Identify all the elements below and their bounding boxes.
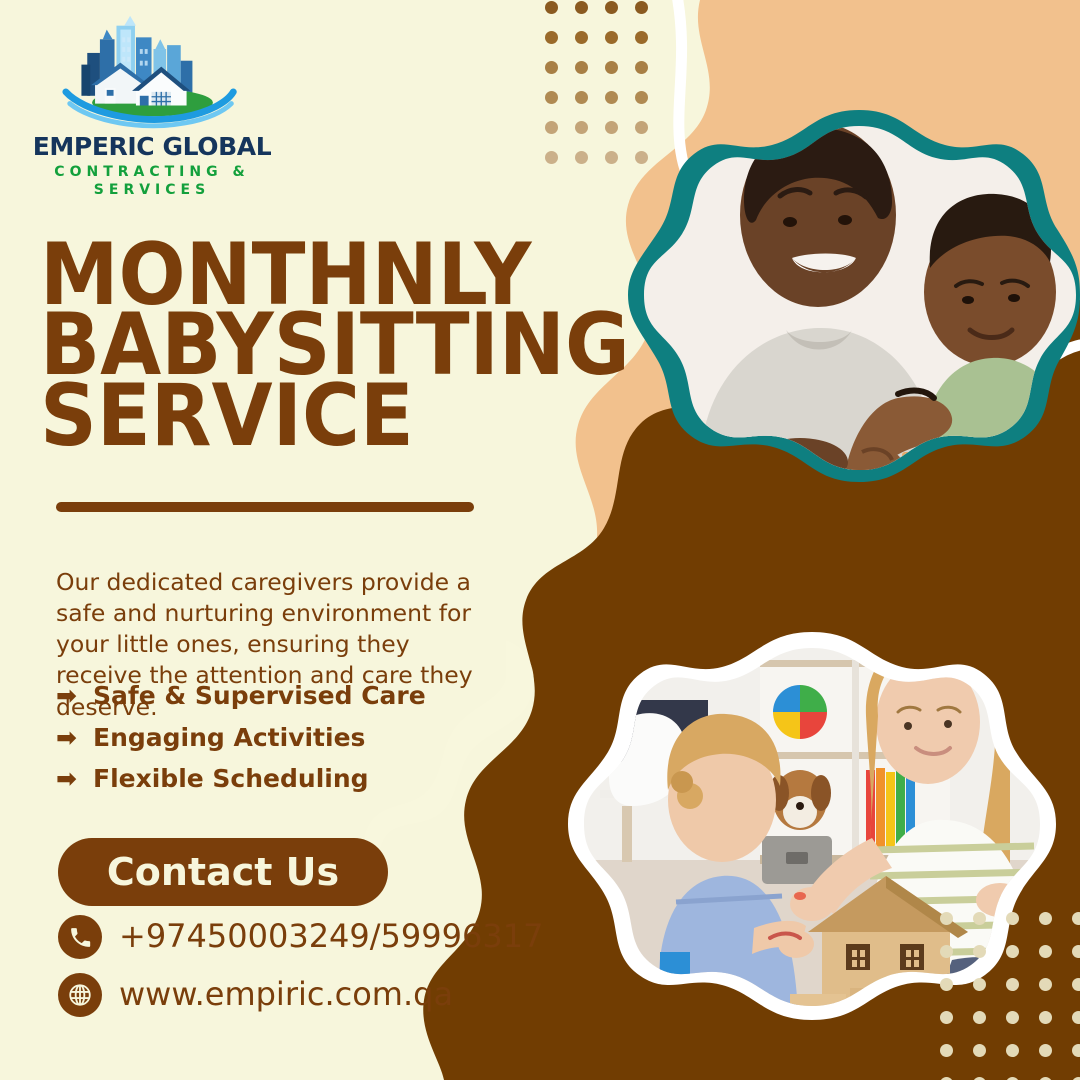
decor-dot <box>575 121 588 134</box>
decor-dot <box>605 1 618 14</box>
decor-dot <box>635 121 648 134</box>
decor-dot <box>1072 1044 1080 1057</box>
decor-dot <box>635 91 648 104</box>
globe-icon <box>58 973 102 1017</box>
decor-dot <box>1072 945 1080 958</box>
decor-dot <box>1039 978 1052 991</box>
decor-dot <box>1039 912 1052 925</box>
feature-label: Safe & Supervised Care <box>93 682 426 710</box>
feature-label: Flexible Scheduling <box>93 765 369 793</box>
decor-dot <box>940 1011 953 1024</box>
decor-dot <box>605 31 618 44</box>
decor-dot <box>1006 945 1019 958</box>
arrow-right-icon: ➡ <box>56 766 82 791</box>
decor-dot <box>575 31 588 44</box>
decor-dot <box>545 31 558 44</box>
decor-dot <box>1006 912 1019 925</box>
decor-dot <box>1039 1011 1052 1024</box>
dot-grid-bottom <box>930 902 1080 1080</box>
decor-dot <box>1006 978 1019 991</box>
decor-dot <box>940 978 953 991</box>
decor-dot <box>940 912 953 925</box>
list-item: ➡ Safe & Supervised Care <box>56 682 526 710</box>
city-skyline-house-logo-icon <box>60 8 245 130</box>
decor-dot <box>545 1 558 14</box>
decor-dot <box>635 151 648 164</box>
decor-dot <box>1006 1011 1019 1024</box>
decor-dot <box>605 151 618 164</box>
list-item: ➡ Engaging Activities <box>56 724 526 752</box>
decor-dot <box>1072 912 1080 925</box>
decor-dot <box>973 912 986 925</box>
headline-line-3: SERVICE <box>40 381 570 452</box>
feature-list: ➡ Safe & Supervised Care ➡ Engaging Acti… <box>56 682 526 807</box>
decor-dot <box>575 1 588 14</box>
feature-label: Engaging Activities <box>93 724 365 752</box>
page-title: MONTHNLY BABYSITTING SERVICE <box>40 240 560 452</box>
contact-details: +97450003249/59996317 www.empiric.com.qa <box>58 915 558 1031</box>
decor-dot <box>973 945 986 958</box>
decor-dot <box>1006 1044 1019 1057</box>
decor-dot <box>940 945 953 958</box>
phone-number: +97450003249/59996317 <box>119 919 543 954</box>
decor-dot <box>1072 1011 1080 1024</box>
decor-dot <box>575 61 588 74</box>
contact-us-button[interactable]: Contact Us <box>58 838 388 906</box>
decor-dot <box>940 1044 953 1057</box>
logo-tagline-line1: CONTRACTING & <box>22 164 282 180</box>
arrow-right-icon: ➡ <box>56 725 82 750</box>
decor-dot <box>545 91 558 104</box>
decor-dot <box>635 31 648 44</box>
decor-dot <box>973 1044 986 1057</box>
phone-icon <box>58 915 102 959</box>
decor-dot <box>545 61 558 74</box>
decor-dot <box>973 1011 986 1024</box>
brand-logo: EMPERIC GLOBAL CONTRACTING & SERVICES <box>22 8 282 198</box>
dot-grid-top <box>536 0 656 172</box>
decor-dot <box>635 61 648 74</box>
decor-dot <box>1039 945 1052 958</box>
contact-phone-row[interactable]: +97450003249/59996317 <box>58 915 558 959</box>
list-item: ➡ Flexible Scheduling <box>56 765 526 793</box>
contact-website-row[interactable]: www.empiric.com.qa <box>58 973 558 1017</box>
decor-dot <box>605 121 618 134</box>
decor-dot <box>635 1 648 14</box>
decor-dot <box>1039 1044 1052 1057</box>
logo-company-name: EMPERIC GLOBAL <box>22 132 282 161</box>
decor-dot <box>545 121 558 134</box>
decor-dot <box>575 91 588 104</box>
decor-dot <box>973 978 986 991</box>
website-url: www.empiric.com.qa <box>119 977 453 1012</box>
divider-bar <box>56 502 474 512</box>
arrow-right-icon: ➡ <box>56 683 82 708</box>
decor-dot <box>545 151 558 164</box>
decor-dot <box>605 91 618 104</box>
poster-canvas: r j <box>0 0 1080 1080</box>
decor-dot <box>605 61 618 74</box>
decor-dot <box>575 151 588 164</box>
logo-tagline-line2: SERVICES <box>22 182 282 198</box>
decor-dot <box>1072 978 1080 991</box>
